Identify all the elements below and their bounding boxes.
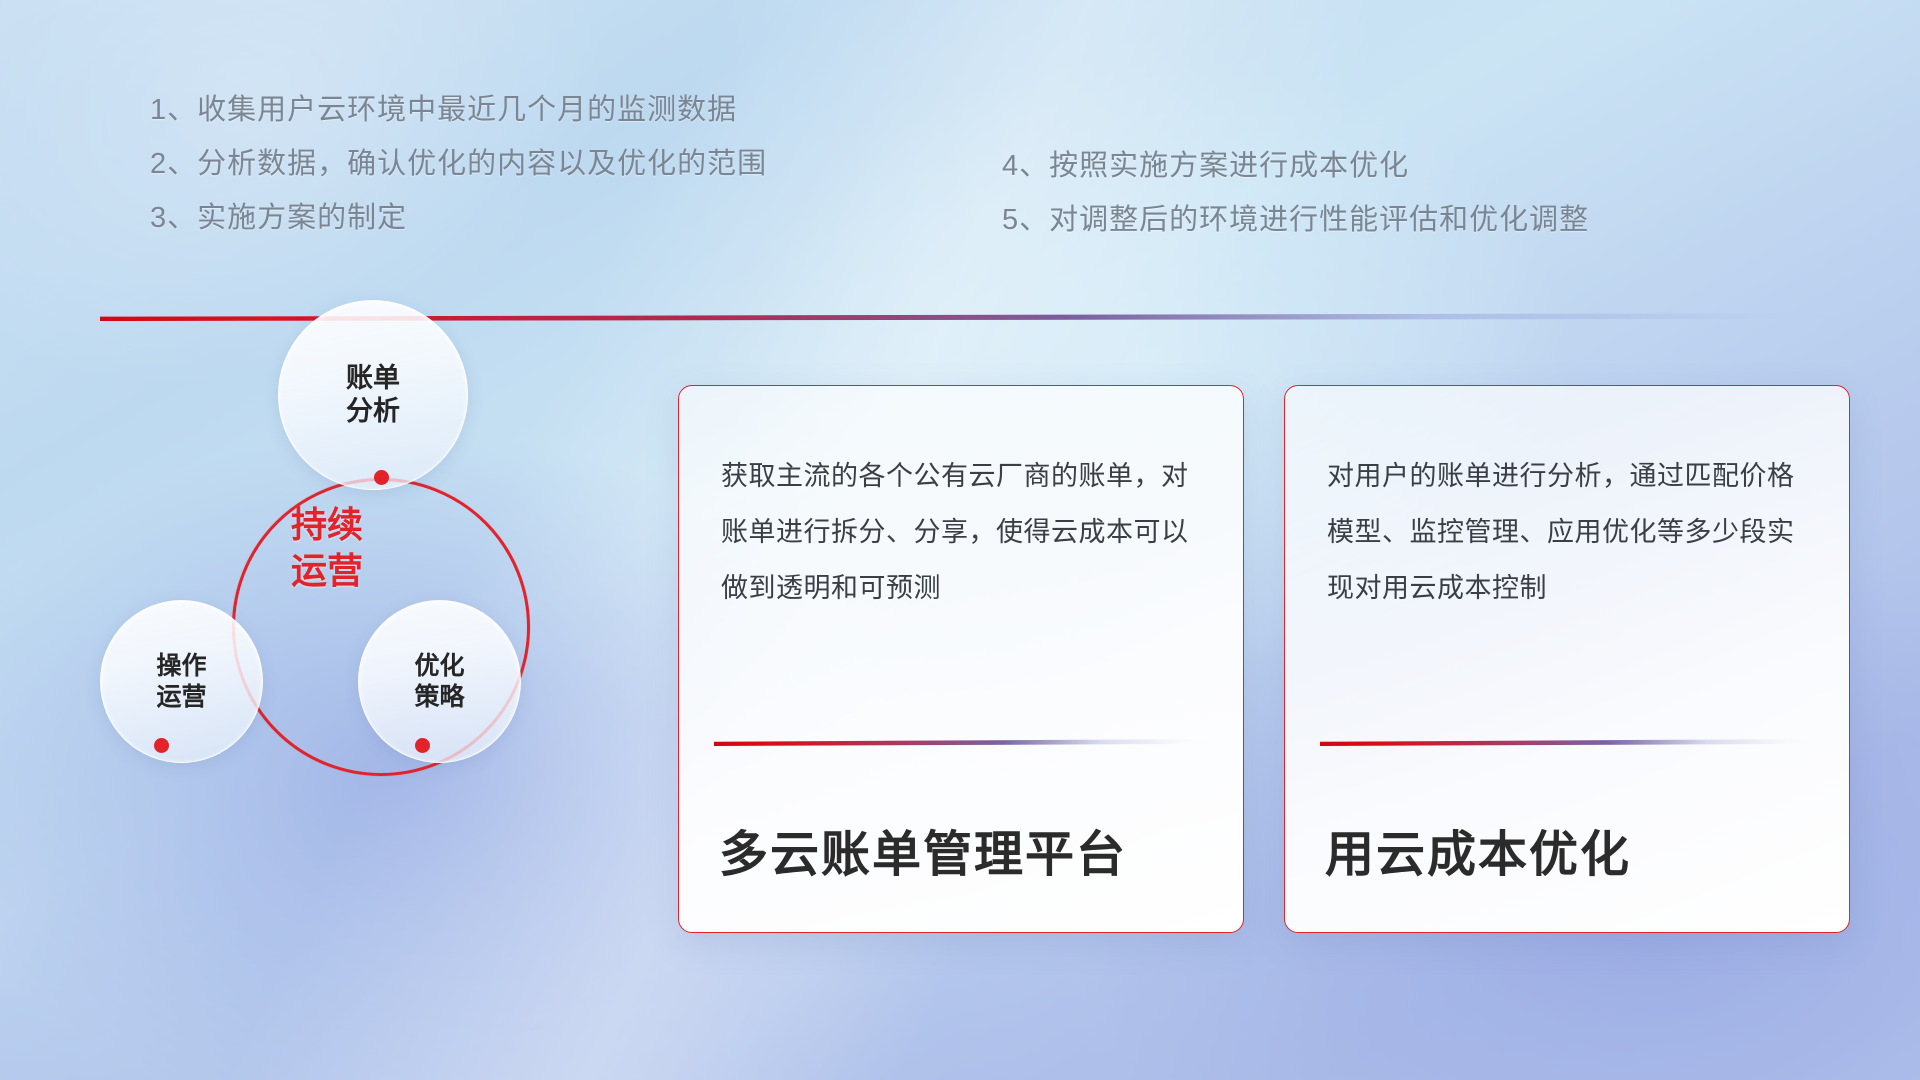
card-divider: [714, 739, 1210, 746]
node-label-line2: 策略: [414, 682, 464, 713]
node-label-line1: 账单: [346, 362, 400, 395]
node-label-line1: 操作: [156, 651, 206, 682]
card-body-text: 对用户的账单进行分析，通过匹配价格模型、监控管理、应用优化等多少段实现对用云成本…: [1285, 386, 1849, 617]
step-item-4: 4、按照实施方案进行成本优化: [1002, 152, 1589, 181]
step-item-5: 5、对调整后的环境进行性能评估和优化调整: [1002, 206, 1589, 235]
diagram-node-ops-operation[interactable]: 操作 运营: [100, 600, 263, 763]
diagram-node-bill-analysis[interactable]: 账单 分析: [278, 300, 468, 490]
step-item-3: 3、实施方案的制定: [150, 204, 767, 233]
diagram-connector-dot-left: [154, 738, 169, 753]
card-divider: [1320, 739, 1816, 746]
steps-right-column: 4、按照实施方案进行成本优化 5、对调整后的环境进行性能评估和优化调整: [1002, 152, 1589, 260]
card-cloud-cost-optimization[interactable]: 对用户的账单进行分析，通过匹配价格模型、监控管理、应用优化等多少段实现对用云成本…: [1284, 385, 1850, 933]
steps-left-column: 1、收集用户云环境中最近几个月的监测数据 2、分析数据，确认优化的内容以及优化的…: [150, 96, 767, 258]
diagram-connector-dot-top: [374, 470, 389, 485]
node-label-line2: 运营: [156, 682, 206, 713]
diagram-node-optimize-strategy[interactable]: 优化 策略: [358, 600, 521, 763]
step-item-2: 2、分析数据，确认优化的内容以及优化的范围: [150, 150, 767, 179]
node-label-line1: 优化: [414, 651, 464, 682]
card-title: 多云账单管理平台: [719, 815, 1127, 886]
steps-section: 1、收集用户云环境中最近几个月的监测数据 2、分析数据，确认优化的内容以及优化的…: [0, 0, 1920, 300]
diagram-connector-dot-right: [415, 738, 430, 753]
card-multi-cloud-billing[interactable]: 获取主流的各个公有云厂商的账单，对账单进行拆分、分享，使得云成本可以做到透明和可…: [678, 385, 1244, 933]
card-body-text: 获取主流的各个公有云厂商的账单，对账单进行拆分、分享，使得云成本可以做到透明和可…: [679, 386, 1243, 617]
continuous-operation-diagram: 账单 分析 操作 运营 优化 策略 持续运营: [90, 290, 550, 810]
card-title: 用云成本优化: [1325, 815, 1631, 886]
step-item-1: 1、收集用户云环境中最近几个月的监测数据: [150, 96, 767, 125]
node-label-line2: 分析: [346, 395, 400, 428]
